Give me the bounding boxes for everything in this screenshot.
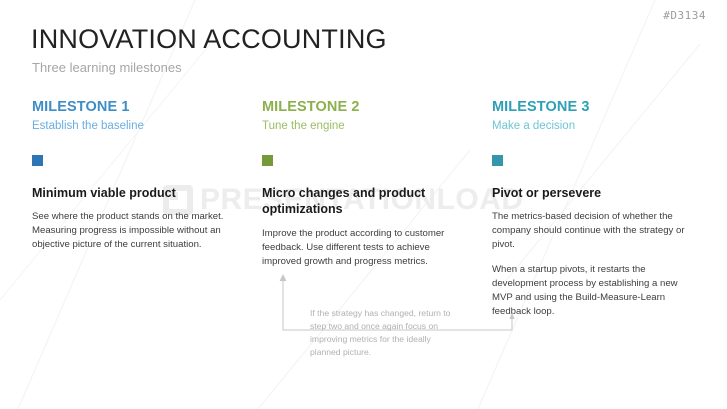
- milestone-title-3: Pivot or persevere: [492, 185, 697, 202]
- document-id: #D3134: [663, 9, 706, 22]
- page-subtitle: Three learning milestones: [32, 60, 182, 75]
- milestone-column-2: MILESTONE 2 Tune the engine Micro change…: [262, 100, 452, 268]
- milestone-label-3: MILESTONE 3: [492, 100, 697, 116]
- milestone-paragraph-2-1: Improve the product according to custome…: [262, 227, 452, 269]
- milestone-label-2: MILESTONE 2: [262, 100, 452, 116]
- milestone-paragraph-3-1: The metrics-based decision of whether th…: [492, 210, 697, 252]
- milestone-tagline-1: Establish the baseline: [32, 120, 232, 134]
- milestone-tagline-3: Make a decision: [492, 120, 697, 134]
- milestone-label-1: MILESTONE 1: [32, 100, 232, 116]
- page-title: INNOVATION ACCOUNTING: [31, 24, 387, 55]
- milestone-column-1: MILESTONE 1 Establish the baseline Minim…: [32, 100, 232, 252]
- milestone-marker-1: [32, 155, 43, 166]
- milestone-marker-3: [492, 155, 503, 166]
- milestone-title-2: Micro changes and product optimizations: [262, 185, 452, 218]
- milestone-tagline-2: Tune the engine: [262, 120, 452, 134]
- slide-canvas: PRESENTATIONLOAD #D3134 INNOVATION ACCOU…: [0, 0, 727, 409]
- milestone-paragraph-1-1: See where the product stands on the mark…: [32, 210, 232, 252]
- milestone-paragraph-3-2: When a startup pivots, it restarts the d…: [492, 263, 697, 319]
- milestone-title-1: Minimum viable product: [32, 185, 232, 202]
- feedback-loop-note: If the strategy has changed, return to s…: [310, 307, 460, 359]
- milestone-marker-2: [262, 155, 273, 166]
- milestone-column-3: MILESTONE 3 Make a decision Pivot or per…: [492, 100, 697, 319]
